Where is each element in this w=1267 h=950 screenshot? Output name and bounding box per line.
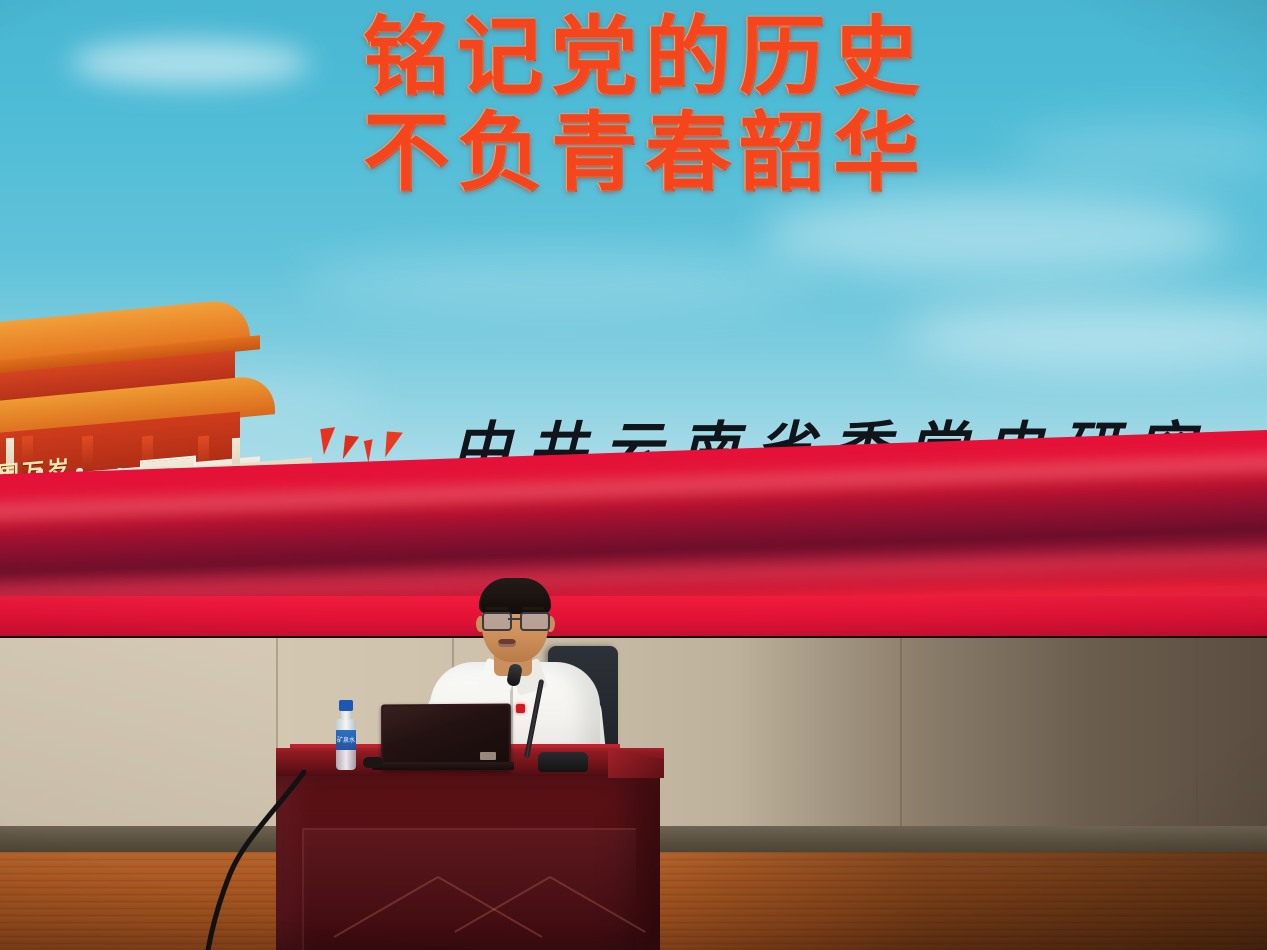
slide-title-line-1: 铭记党的历史 — [250, 14, 1040, 102]
slide-title-line-2: 不负青春韶华 — [250, 110, 1040, 198]
red-flag — [385, 431, 403, 458]
projection-screen: 铭记党的历史 不负青春韶华 — [0, 0, 1267, 636]
wall-seam — [900, 636, 902, 846]
mouth — [498, 639, 516, 647]
mouse — [363, 757, 383, 768]
glasses-bridge — [508, 618, 520, 620]
water-bottle: 矿泉水 — [336, 700, 356, 770]
slide-title-block: 铭记党的历史 不负青春韶华 — [250, 14, 1040, 197]
ribbon-lower-band — [0, 596, 1267, 636]
bottle-neck — [341, 711, 351, 720]
laptop-base — [372, 762, 514, 770]
eyebrow-right — [522, 607, 544, 610]
red-flag — [343, 435, 359, 460]
floor-shadow — [640, 852, 1267, 950]
cloud — [760, 190, 1230, 280]
laptop-badge — [480, 752, 496, 760]
cloud — [300, 250, 820, 310]
lecture-hall-scene: 铭记党的历史 不负青春韶华 — [0, 0, 1267, 950]
microphone-base — [538, 752, 588, 772]
laptop — [381, 703, 511, 770]
glasses-lens-left — [482, 612, 512, 631]
power-cable — [196, 770, 306, 950]
bottle-label-text: 矿泉水 — [336, 735, 356, 744]
bottle-cap — [339, 700, 353, 711]
wall-seam — [1196, 636, 1198, 846]
party-emblem-pin — [516, 704, 525, 713]
glasses-lens-right — [520, 612, 550, 631]
eyebrow-left — [486, 607, 508, 610]
podium-panel — [302, 828, 636, 950]
